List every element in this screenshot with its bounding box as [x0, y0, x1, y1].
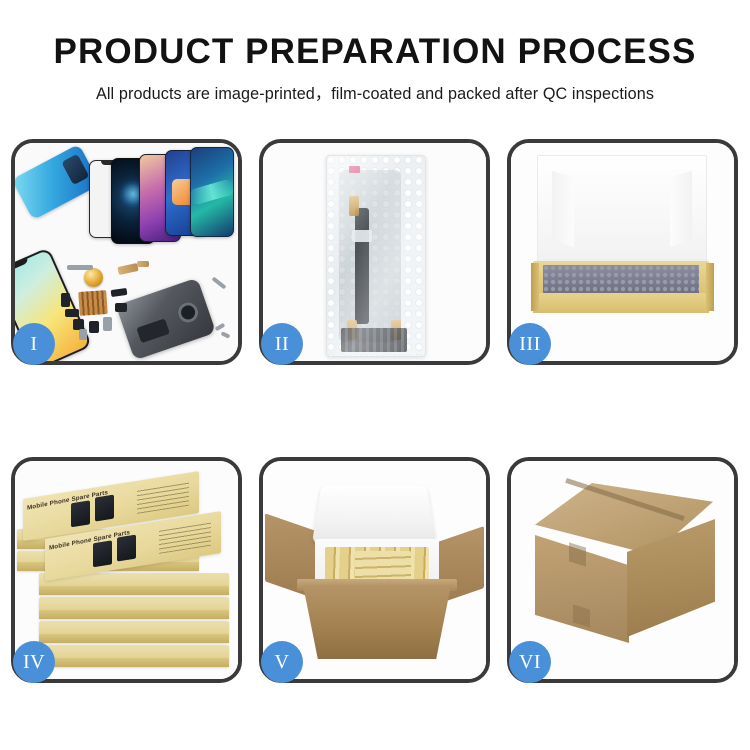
stacked-box	[39, 645, 229, 667]
lcd-connector	[352, 230, 372, 242]
kraft-box-side-right	[706, 263, 714, 311]
small-part	[103, 317, 112, 331]
small-part	[221, 331, 231, 338]
blue-back-glass	[15, 144, 100, 220]
bubble-wrap-bag	[326, 155, 426, 357]
small-part	[111, 288, 128, 297]
box-label-phone-image	[117, 535, 136, 562]
box-label-phone-image	[71, 500, 90, 527]
small-part	[67, 265, 93, 270]
step-panel-1[interactable]: I	[11, 139, 242, 365]
step-panel-6[interactable]: VI	[507, 457, 738, 683]
step-badge-5: V	[261, 641, 303, 683]
step-badge-3: III	[509, 323, 551, 365]
carton-body	[303, 585, 451, 659]
driver-ic-strip	[341, 328, 407, 352]
page-title: PRODUCT PREPARATION PROCESS	[0, 34, 750, 71]
box-label-phone-image	[93, 540, 112, 567]
process-step-grid: I II	[11, 139, 739, 683]
kraft-box-front	[533, 293, 709, 313]
flex-cable-part	[117, 263, 138, 275]
small-part	[215, 323, 226, 331]
step-panel-5[interactable]: V	[259, 457, 490, 683]
stacked-box	[39, 597, 229, 619]
small-part	[79, 329, 87, 340]
small-part	[65, 309, 79, 317]
box-label-specs	[159, 520, 211, 554]
page-header: PRODUCT PREPARATION PROCESS All products…	[0, 0, 750, 104]
small-part	[115, 303, 127, 312]
step-panel-2[interactable]: II	[259, 139, 490, 365]
gold-contact	[349, 196, 359, 216]
box-stack: Mobile Phone Spare Parts Mobile Phone Sp…	[17, 477, 238, 669]
page-subtitle: All products are image-printed，film-coat…	[0, 80, 750, 104]
lid-fold-left	[552, 171, 574, 247]
flex-cable-part	[137, 261, 149, 267]
lcd-panel	[339, 170, 401, 342]
small-part	[61, 293, 70, 307]
lid-fold-right	[670, 171, 692, 247]
gold-speaker-part	[84, 268, 103, 287]
teal-wallpaper-screen	[190, 147, 234, 237]
box-label-specs	[137, 480, 189, 514]
pink-qc-sticker	[349, 166, 360, 173]
step-panel-4[interactable]: Mobile Phone Spare Parts Mobile Phone Sp…	[11, 457, 242, 683]
lcd-flex-cable	[355, 208, 369, 324]
step-badge-1: I	[13, 323, 55, 365]
step-badge-4: IV	[13, 641, 55, 683]
chip-array-part	[78, 290, 108, 316]
phone-back-housing	[116, 278, 216, 361]
kraft-box-side-left	[531, 263, 539, 311]
small-part	[211, 276, 226, 289]
box-label-phone-image	[95, 495, 114, 522]
small-part	[89, 321, 99, 333]
foam-box-lid	[312, 485, 436, 543]
stacked-box	[39, 621, 229, 643]
step-badge-2: II	[261, 323, 303, 365]
grey-foam-insert	[543, 265, 699, 295]
step-badge-6: VI	[509, 641, 551, 683]
step-panel-3[interactable]: III	[507, 139, 738, 365]
